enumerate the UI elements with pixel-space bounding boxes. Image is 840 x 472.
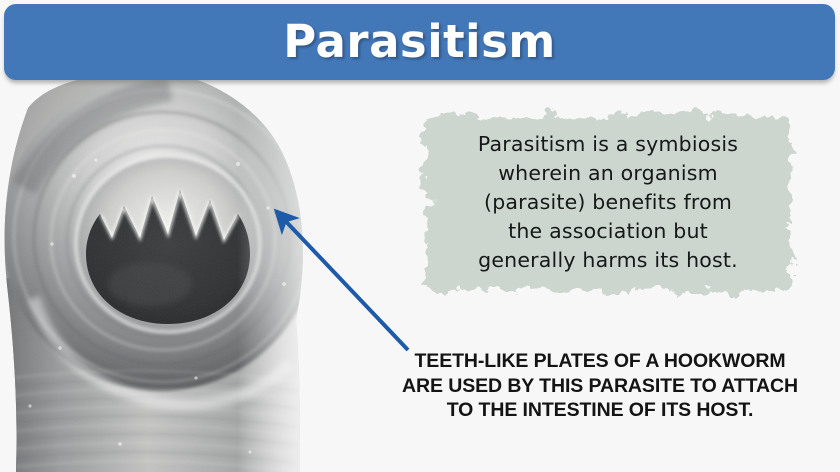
caption-line-2: ARE USED BY THIS PARASITE TO ATTACH xyxy=(368,374,832,399)
page-title: Parasitism xyxy=(4,14,835,69)
slide-canvas: Parasitism Parasitism is a sy xyxy=(0,0,840,472)
definition-line-5: generally harms its host. xyxy=(434,246,782,275)
definition-line-4: the association but xyxy=(434,217,782,246)
definition-text: Parasitism is a symbiosis wherein an org… xyxy=(434,130,782,275)
definition-card: Parasitism is a symbiosis wherein an org… xyxy=(412,104,804,300)
annotation-caption: TEETH-LIKE PLATES OF A HOOKWORM ARE USED… xyxy=(368,349,832,423)
title-banner: Parasitism xyxy=(4,4,835,80)
definition-line-1: Parasitism is a symbiosis xyxy=(434,130,782,159)
definition-line-2: wherein an organism xyxy=(434,159,782,188)
caption-line-3: TO THE INTESTINE OF ITS HOST. xyxy=(368,398,832,423)
definition-line-3: (parasite) benefits from xyxy=(434,188,782,217)
hookworm-micrograph-image xyxy=(0,48,330,472)
hookworm-micrograph xyxy=(0,48,330,472)
caption-line-1: TEETH-LIKE PLATES OF A HOOKWORM xyxy=(368,349,832,374)
